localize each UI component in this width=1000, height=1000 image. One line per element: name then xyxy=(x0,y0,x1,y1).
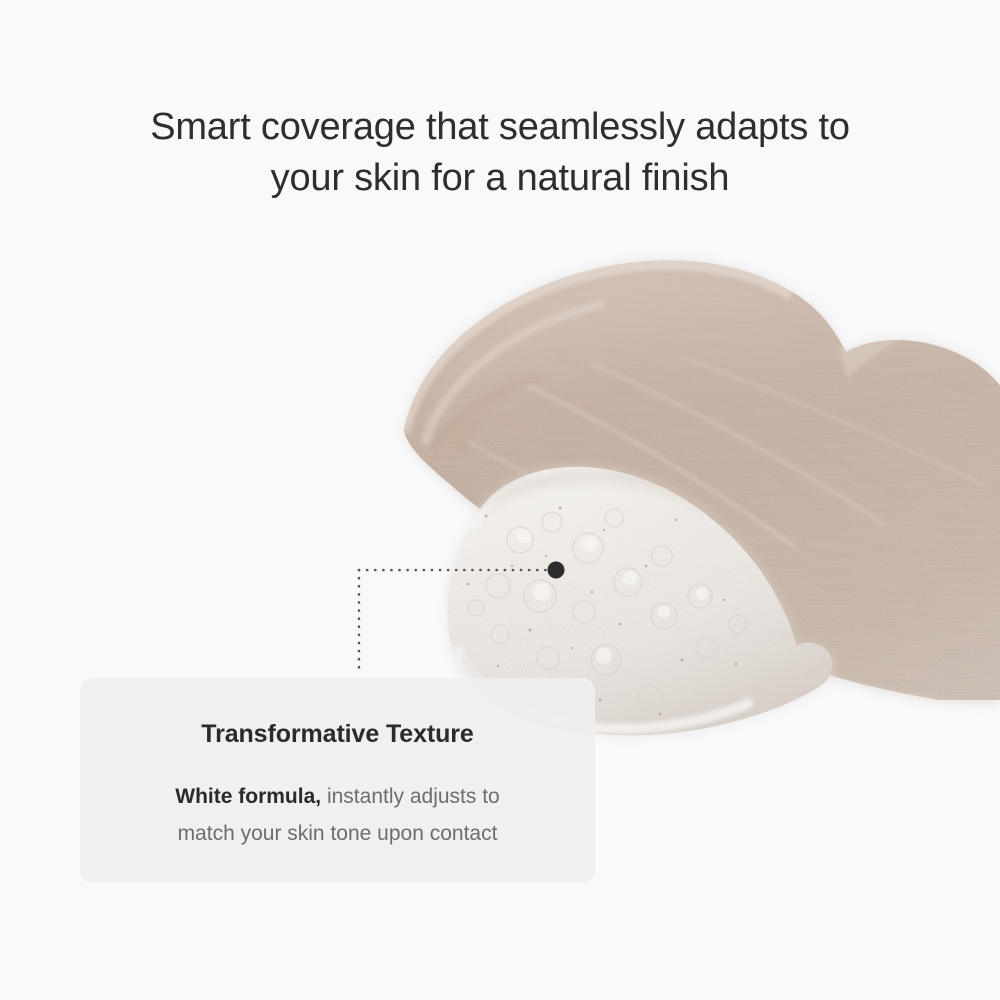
card-title: Transformative Texture xyxy=(80,720,595,749)
card-body-line-1: White formula, instantly adjusts to xyxy=(80,778,595,815)
promo-graphic-canvas: Smart coverage that seamlessly adapts to… xyxy=(0,0,1000,1000)
marker-dot xyxy=(548,562,565,579)
card-body-lead: White formula, xyxy=(175,785,321,808)
feature-callout-card: Transformative Texture White formula, in… xyxy=(80,678,595,883)
card-body-line-2: match your skin tone upon contact xyxy=(80,815,595,852)
dotted-leader-line xyxy=(359,570,548,673)
card-body-rest: instantly adjusts to xyxy=(321,785,500,808)
card-body: White formula, instantly adjusts to matc… xyxy=(80,778,595,852)
